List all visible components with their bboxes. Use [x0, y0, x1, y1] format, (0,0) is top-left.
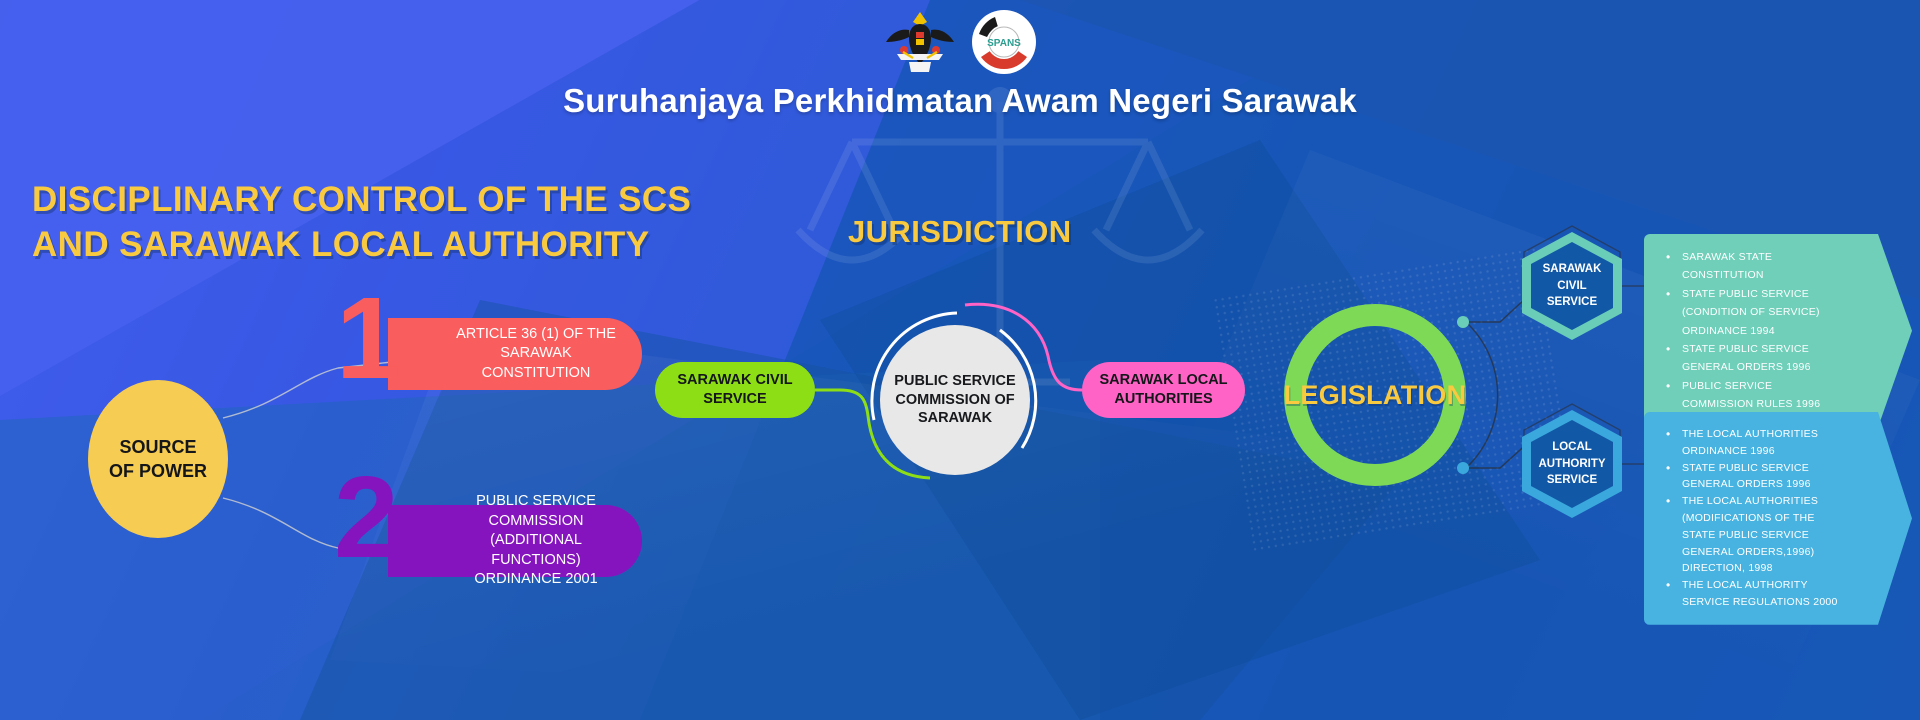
- source-of-power-line2: OF POWER: [109, 459, 207, 483]
- legislation-title: LEGISLATION: [1284, 380, 1467, 411]
- legislation-node[interactable]: LEGISLATION: [1284, 304, 1466, 486]
- infographic-canvas: SPANS Suruhanjaya Perkhidmatan Awam Nege…: [0, 0, 1920, 720]
- page-header: SPANS Suruhanjaya Perkhidmatan Awam Nege…: [0, 6, 1920, 120]
- hex-las-inner: LOCAL AUTHORITY SERVICE: [1531, 420, 1613, 508]
- list-item: THE LOCAL AUTHORITY SERVICE REGULATIONS …: [1666, 577, 1842, 611]
- spans-logo-text: SPANS: [987, 38, 1021, 49]
- legislation-branch-2-hexagon[interactable]: LOCAL AUTHORITY SERVICE: [1522, 410, 1622, 518]
- pill-sla-line2: AUTHORITIES: [1114, 390, 1212, 409]
- hex-scs-outer: SARAWAK CIVIL SERVICE: [1522, 232, 1622, 340]
- pill-scs-line2: SERVICE: [703, 390, 766, 409]
- logo-row: SPANS: [0, 6, 1920, 78]
- list-item: THE LOCAL AUTHORITIES (MODIFICATIONS OF …: [1666, 493, 1842, 577]
- hex-las-line3: SERVICE: [1547, 472, 1597, 489]
- legislation-branch-1-hexagon[interactable]: SARAWAK CIVIL SERVICE: [1522, 232, 1622, 340]
- source-of-power-node[interactable]: SOURCE OF POWER: [88, 380, 228, 538]
- main-heading-line2: AND SARAWAK LOCAL AUTHORITY: [32, 223, 692, 268]
- jurisdiction-center-line3: SARAWAK: [918, 409, 992, 428]
- legislation-branch-2-list: THE LOCAL AUTHORITIES ORDINANCE 1996 STA…: [1644, 412, 1912, 625]
- jurisdiction-center-line2: COMMISSION OF: [895, 391, 1014, 410]
- source-item-1-line2: CONSTITUTION: [448, 364, 624, 384]
- jurisdiction-center-node[interactable]: PUBLIC SERVICE COMMISSION OF SARAWAK: [880, 325, 1030, 475]
- source-item-2-line2: (ADDITIONAL FUNCTIONS): [448, 531, 624, 570]
- main-heading: DISCIPLINARY CONTROL OF THE SCS AND SARA…: [32, 178, 692, 268]
- source-item-1-number: 1: [336, 280, 397, 396]
- legislation-branch-2-items: THE LOCAL AUTHORITIES ORDINANCE 1996 STA…: [1666, 426, 1842, 611]
- hex-scs-inner: SARAWAK CIVIL SERVICE: [1531, 242, 1613, 330]
- hex-scs-line2: CIVIL: [1557, 278, 1586, 295]
- list-item: PUBLIC SERVICE COMMISSION RULES 1996: [1666, 377, 1842, 414]
- list-item: STATE PUBLIC SERVICE (CONDITION OF SERVI…: [1666, 285, 1842, 340]
- legislation-branch-1-items: SARAWAK STATE CONSTITUTION STATE PUBLIC …: [1666, 248, 1842, 413]
- hex-las-line2: AUTHORITY: [1538, 456, 1605, 473]
- spans-logo-icon: SPANS: [971, 9, 1037, 75]
- source-item-2-number: 2: [334, 459, 395, 575]
- list-item: THE LOCAL AUTHORITIES ORDINANCE 1996: [1666, 426, 1842, 460]
- legislation-branch-1-list: SARAWAK STATE CONSTITUTION STATE PUBLIC …: [1644, 234, 1912, 427]
- jurisdiction-center-line1: PUBLIC SERVICE: [894, 372, 1015, 391]
- source-item-1-card[interactable]: 1 ARTICLE 36 (1) OF THE SARAWAK CONSTITU…: [388, 318, 642, 390]
- hex-scs-line1: SARAWAK: [1543, 261, 1602, 278]
- list-item: SARAWAK STATE CONSTITUTION: [1666, 248, 1842, 285]
- jurisdiction-pill-sarawak-local-authorities[interactable]: SARAWAK LOCAL AUTHORITIES: [1082, 362, 1245, 418]
- hex-scs-line3: SERVICE: [1547, 294, 1597, 311]
- jurisdiction-pill-sarawak-civil-service[interactable]: SARAWAK CIVIL SERVICE: [655, 362, 815, 418]
- list-item: STATE PUBLIC SERVICE GENERAL ORDERS 1996: [1666, 340, 1842, 377]
- sarawak-state-crest-icon: [883, 6, 957, 78]
- pill-sla-line1: SARAWAK LOCAL: [1099, 371, 1227, 390]
- jurisdiction-heading: JURISDICTION: [848, 212, 1072, 252]
- hex-las-line1: LOCAL: [1552, 439, 1592, 456]
- pill-scs-line1: SARAWAK CIVIL: [677, 371, 792, 390]
- source-of-power-line1: SOURCE: [119, 435, 196, 459]
- source-item-2-label: PUBLIC SERVICE COMMISSION (ADDITIONAL FU…: [448, 492, 624, 590]
- organization-title: Suruhanjaya Perkhidmatan Awam Negeri Sar…: [0, 82, 1920, 120]
- hex-las-outer: LOCAL AUTHORITY SERVICE: [1522, 410, 1622, 518]
- list-item: STATE PUBLIC SERVICE GENERAL ORDERS 1996: [1666, 460, 1842, 494]
- source-item-2-line3: ORDINANCE 2001: [448, 570, 624, 590]
- source-item-2-line1: PUBLIC SERVICE COMMISSION: [448, 492, 624, 531]
- main-heading-line1: DISCIPLINARY CONTROL OF THE SCS: [32, 178, 692, 223]
- source-item-1-label: ARTICLE 36 (1) OF THE SARAWAK CONSTITUTI…: [448, 325, 624, 384]
- source-item-1-line1: ARTICLE 36 (1) OF THE SARAWAK: [448, 325, 624, 364]
- source-item-2-card[interactable]: 2 PUBLIC SERVICE COMMISSION (ADDITIONAL …: [388, 505, 642, 577]
